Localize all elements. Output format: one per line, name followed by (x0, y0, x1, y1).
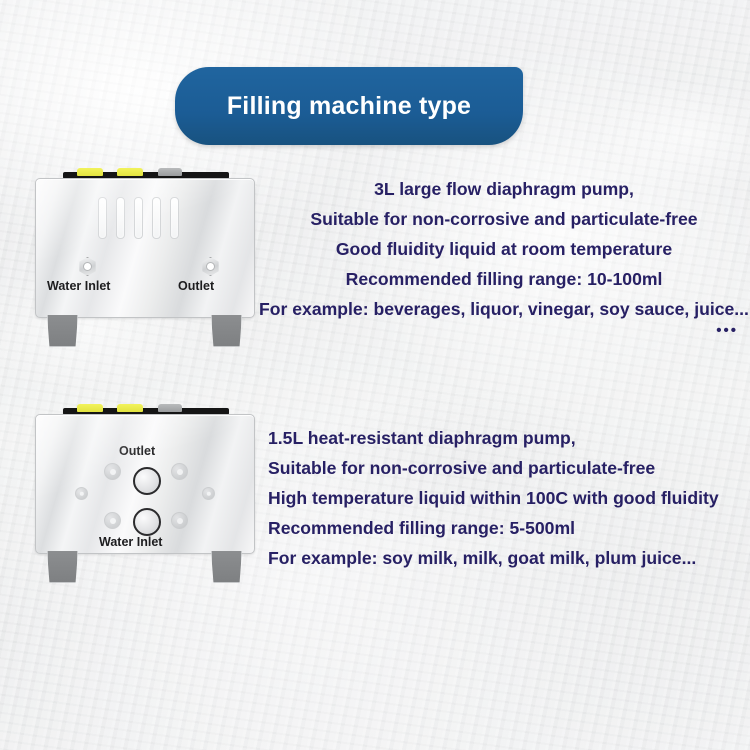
machine-leg-right (211, 315, 242, 347)
product-spec-page: Filling machine type Water Inlet Outlet (0, 0, 750, 750)
description-line: 1.5L heat-resistant diaphragm pump, (268, 423, 750, 453)
description-line: Good fluidity liquid at room temperature (258, 234, 750, 264)
machine-cap-yellow-1 (77, 404, 103, 412)
machine-label-outlet: Outlet (119, 444, 155, 458)
bolt-icon (104, 463, 121, 480)
description-line: Recommended filling range: 10-100ml (258, 264, 750, 294)
page-title: Filling machine type (227, 92, 471, 121)
vent-slot (116, 197, 125, 239)
machine-body: Outlet Water Inlet (35, 414, 255, 554)
vent-slot (134, 197, 143, 239)
description-line: For example: soy milk, milk, goat milk, … (268, 543, 750, 573)
machine-leg-left (47, 551, 78, 583)
machine-cap-yellow-2 (117, 404, 143, 412)
machine-cap-gray (158, 404, 182, 412)
machine-vent-group (98, 197, 179, 239)
description-line: Recommended filling range: 5-500ml (268, 513, 750, 543)
description-line: 3L large flow diaphragm pump, (258, 174, 750, 204)
machine-leg-left (47, 315, 78, 347)
outlet-port-icon (201, 257, 220, 276)
vent-slot (98, 197, 107, 239)
bolt-icon (75, 487, 88, 500)
product-description-3l: 3L large flow diaphragm pump, Suitable f… (258, 174, 750, 338)
bolt-icon (202, 487, 215, 500)
bolt-icon (171, 512, 188, 529)
machine-leg-right (211, 551, 242, 583)
description-line: Suitable for non-corrosive and particula… (268, 453, 750, 483)
product-description-1-5l: 1.5L heat-resistant diaphragm pump, Suit… (268, 423, 750, 573)
water-inlet-port-icon (133, 508, 161, 536)
machine-cap-yellow-2 (117, 168, 143, 176)
machine-illustration-3l: Water Inlet Outlet (33, 172, 255, 350)
vent-slot (152, 197, 161, 239)
machine-label-water-inlet: Water Inlet (47, 279, 110, 293)
description-line: For example: beverages, liquor, vinegar,… (258, 294, 750, 324)
vent-slot (170, 197, 179, 239)
water-inlet-port-icon (78, 257, 97, 276)
description-ellipsis: ••• (258, 324, 750, 338)
machine-label-water-inlet: Water Inlet (99, 535, 162, 549)
outlet-port-icon (133, 467, 161, 495)
machine-cap-yellow-1 (77, 168, 103, 176)
machine-cap-gray (158, 168, 182, 176)
machine-illustration-1-5l: Outlet Water Inlet (33, 408, 255, 586)
machine-label-outlet: Outlet (178, 279, 214, 293)
description-line: Suitable for non-corrosive and particula… (258, 204, 750, 234)
bolt-icon (104, 512, 121, 529)
bolt-icon (171, 463, 188, 480)
machine-body: Water Inlet Outlet (35, 178, 255, 318)
title-banner: Filling machine type (175, 67, 523, 145)
description-line: High temperature liquid within 100C with… (268, 483, 750, 513)
